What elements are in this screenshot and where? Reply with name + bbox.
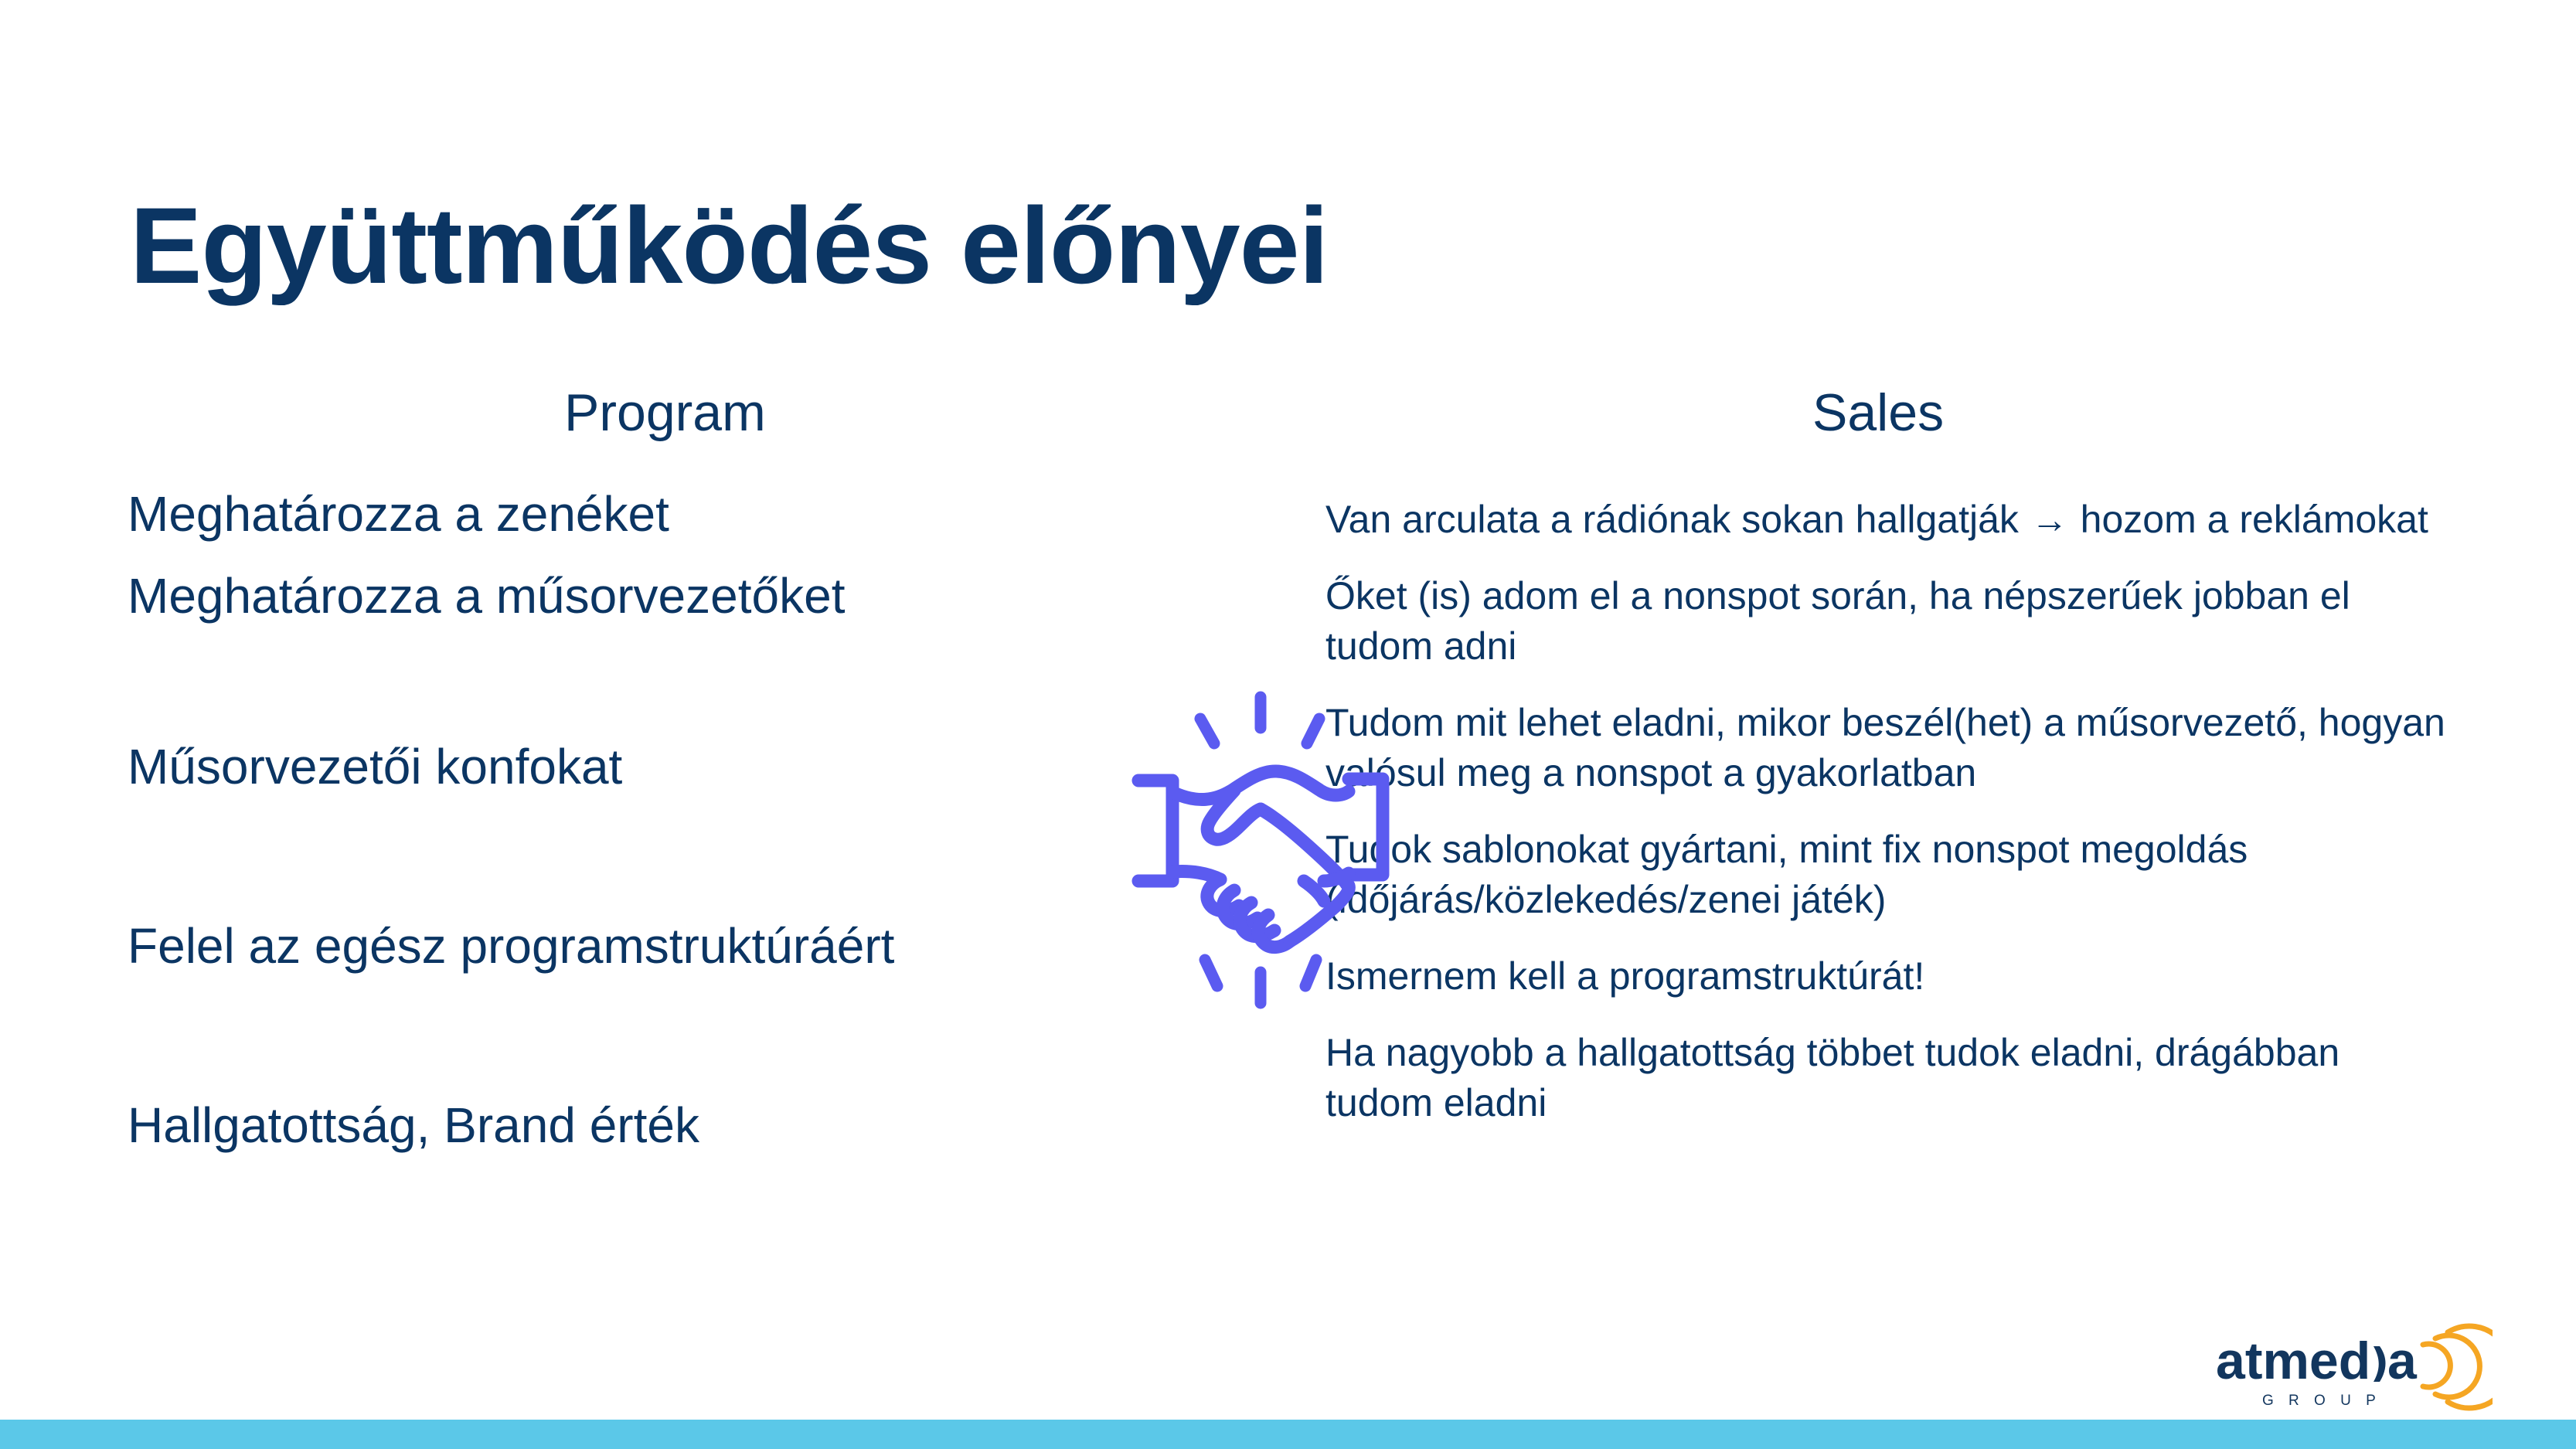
sales-item: Őket (is) adom el a nonspot során, ha né…	[1325, 571, 2454, 672]
sales-item: Ha nagyobb a hallgatottság többet tudok …	[1325, 1028, 2454, 1128]
program-item: Hallgatottság, Brand érték	[128, 1098, 1302, 1154]
sales-item: Van arculata a rádiónak sokan hallgatják…	[1325, 495, 2454, 545]
slide-root: Együttműködés előnyei Program Sales Megh…	[0, 0, 2576, 1449]
page-title: Együttműködés előnyei	[130, 189, 1328, 302]
logo-mark-chevron	[2374, 1346, 2386, 1382]
handshake-icon	[1117, 688, 1426, 1012]
right-arrow-icon: →	[2030, 500, 2070, 541]
sales-column: Van arculata a rádiónak sokan hallgatják…	[1325, 495, 2454, 1155]
sales-item: Ismernem kell a programstruktúrát!	[1325, 951, 2454, 1002]
logo-wordmark: atmed	[2216, 1332, 2370, 1390]
column-header-program: Program	[564, 383, 766, 443]
sales-item-text-after: hozom a reklámokat	[2070, 498, 2428, 541]
bottom-accent-bar	[0, 1420, 2576, 1449]
atmedia-group-logo: atmed a G R O U P	[2214, 1321, 2493, 1414]
program-item: Meghatározza a zenéket	[128, 487, 1302, 543]
sales-item: Tudom mit lehet eladni, mikor beszél(het…	[1325, 698, 2454, 798]
logo-signal-arcs	[2423, 1326, 2493, 1408]
column-header-sales: Sales	[1812, 383, 1944, 443]
logo-subtitle: G R O U P	[2262, 1393, 2381, 1409]
sales-item-text-before: Van arculata a rádiónak sokan hallgatják	[1325, 498, 2030, 541]
program-item: Meghatározza a műsorvezetőket	[128, 569, 1302, 624]
sales-item: Tudok sablonokat gyártani, mint fix nons…	[1325, 825, 2454, 925]
logo-wordmark-tail: a	[2387, 1332, 2418, 1390]
